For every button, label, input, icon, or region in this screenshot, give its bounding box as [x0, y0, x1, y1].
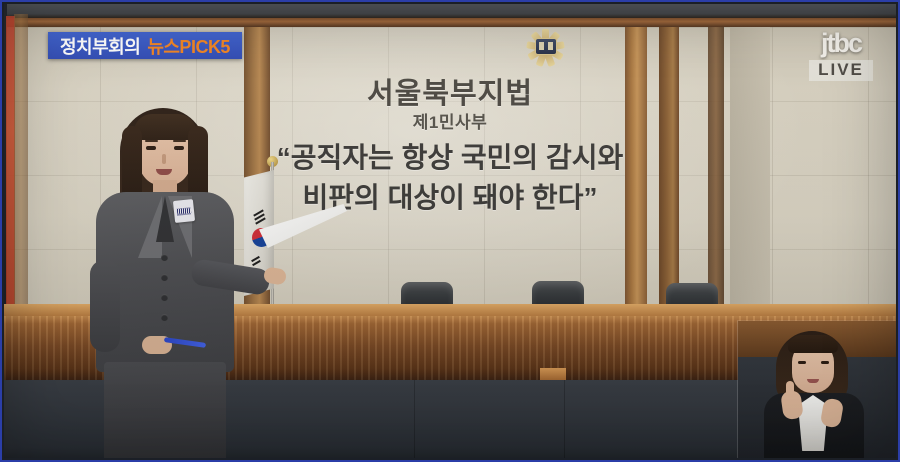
channel-bug: jtbc LIVE	[800, 30, 882, 81]
ceiling-soffit	[4, 18, 896, 27]
court-emblem-icon	[522, 27, 568, 69]
program-name-label: 정치부회의	[60, 33, 140, 59]
courtroom-scene: 서울북부지법 제1민사부 “공직자는 항상 국민의 감시와 비판의 대상이 돼야…	[4, 4, 896, 458]
live-badge: LIVE	[809, 60, 873, 81]
court-name-text: 서울북부지법	[4, 70, 896, 112]
news-anchor	[82, 108, 247, 458]
jtbc-logo-icon: jtbc	[800, 30, 882, 57]
ceiling-band	[4, 4, 896, 18]
broadcast-frame: 서울북부지법 제1민사부 “공직자는 항상 국민의 감시와 비판의 대상이 돼야…	[0, 0, 900, 462]
program-banner: 정치부회의 뉴스PICK5	[48, 32, 242, 59]
sign-language-interpreter-inset	[737, 320, 896, 458]
emblem-core	[535, 38, 557, 55]
anchor-name-badge	[173, 199, 195, 223]
segment-name-label: 뉴스PICK5	[147, 33, 230, 59]
bench-center-notch	[540, 368, 566, 380]
